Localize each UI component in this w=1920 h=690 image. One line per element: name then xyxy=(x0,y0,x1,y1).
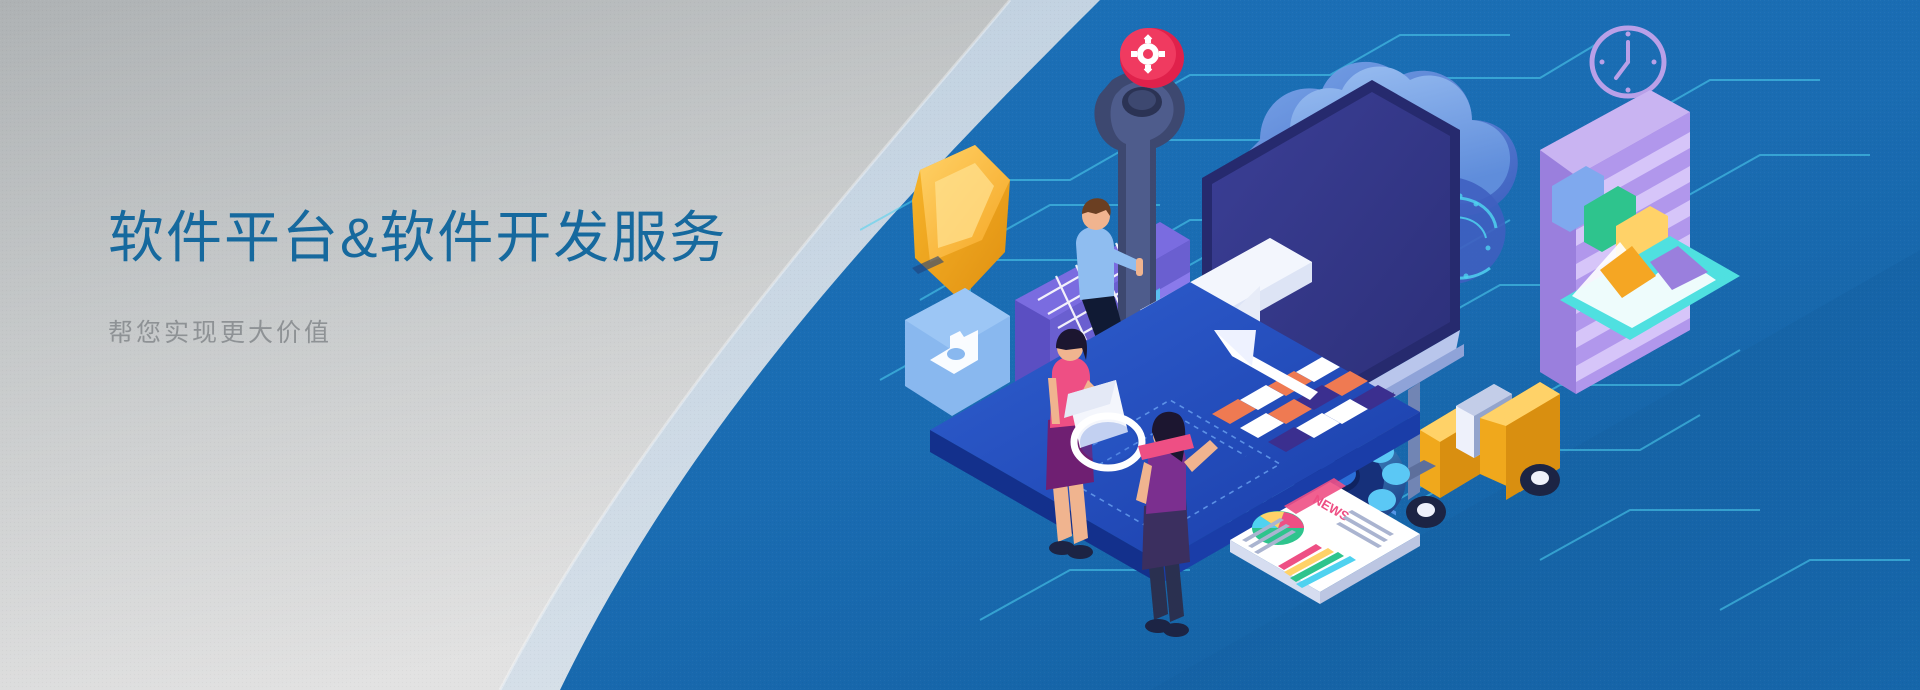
hero-banner: 软件平台&软件开发服务 帮您实现更大价值 xyxy=(0,0,1920,690)
clock-icon xyxy=(1592,28,1664,96)
banner-text-block: 软件平台&软件开发服务 帮您实现更大价值 xyxy=(108,203,868,350)
shield-icon xyxy=(912,145,1010,300)
gear-badge-icon xyxy=(1120,28,1184,88)
banner-headline: 软件平台&软件开发服务 xyxy=(108,203,868,273)
hero-illustration: NEWS xyxy=(860,0,1920,690)
banner-subline: 帮您实现更大价值 xyxy=(108,317,868,350)
